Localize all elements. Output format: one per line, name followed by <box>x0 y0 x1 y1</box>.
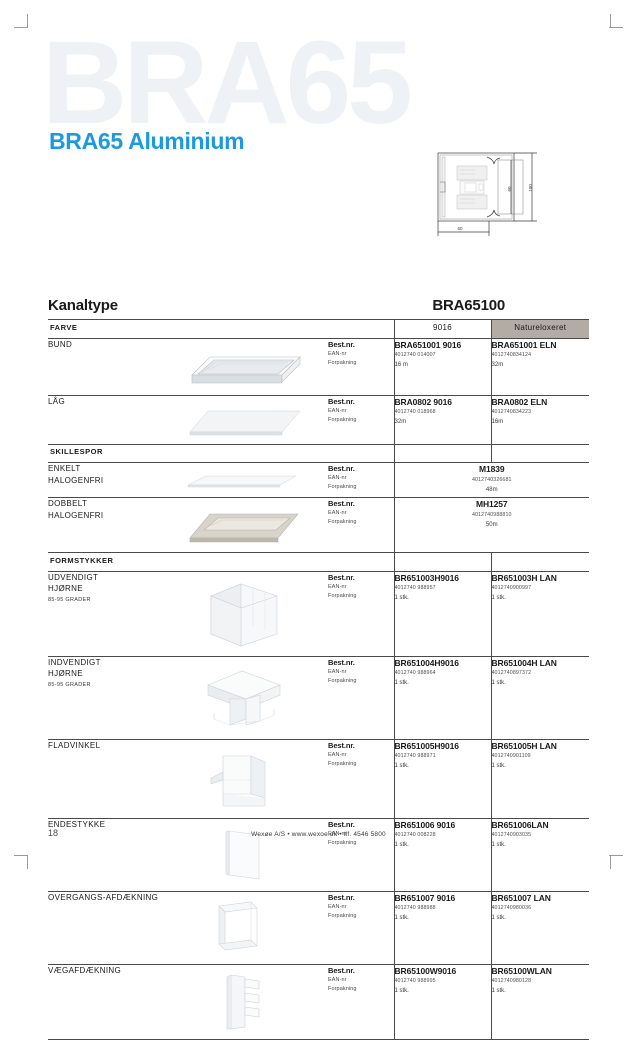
product-values-spanning: M1839401274032668148m <box>394 463 589 498</box>
product-label-cell: VÆGAFDÆKNING <box>48 964 160 1039</box>
order-number: BR651005H LAN <box>492 740 590 753</box>
crop-mark <box>610 855 611 869</box>
packaging-amount: 48m <box>395 485 590 495</box>
product-label-line: VÆGAFDÆKNING <box>48 965 160 977</box>
dim-height-outer-label: 100 <box>528 184 533 192</box>
packaging-amount: 1 stk. <box>492 913 590 923</box>
product-label-sub: 85-95 GRADER <box>48 682 160 688</box>
product-values-natureloxeret: BR651003H LAN40127409009971 stk. <box>491 571 589 656</box>
packaging-amount: 1 stk. <box>492 593 590 603</box>
packaging-amount: 16 m <box>395 360 491 370</box>
section-band-spacer-b <box>491 444 589 463</box>
product-image-cell <box>160 739 328 818</box>
order-number: BRA0802 9016 <box>395 396 491 409</box>
ean-number: 4012740 018968 <box>395 408 491 417</box>
ean-number: 4012740834124 <box>492 351 590 360</box>
product-image-cell <box>160 498 328 553</box>
order-number: BR65100W9016 <box>395 965 491 978</box>
product-values-natureloxeret: BR651004H LAN40127408973721 stk. <box>491 656 589 739</box>
section-band-row: FORMSTYKKER <box>48 553 589 572</box>
ean-nr-label: EAN-nr <box>328 751 394 760</box>
product-image-cell <box>160 571 328 656</box>
product-image-wall-cover <box>221 971 267 1033</box>
ean-number: 4012740897372 <box>492 669 590 678</box>
field-labels-cell: Best.nr.EAN-nrForpakning <box>328 338 394 395</box>
product-label-line: DOBBELT <box>48 498 160 510</box>
field-labels-cell: Best.nr.EAN-nrForpakning <box>328 498 394 553</box>
product-row: UDVENDIGTHJØRNE85-95 GRADER Best.nr.EAN-… <box>48 571 589 656</box>
ean-number: 4012740 988988 <box>395 904 491 913</box>
product-table-body: FARVE9016NatureloxeretBUND Best.nr.EAN-n… <box>48 320 589 1040</box>
product-values-natureloxeret: BR651007 LAN40127409800361 stk. <box>491 891 589 964</box>
forpakning-label: Forpakning <box>328 760 394 769</box>
field-labels-cell: Best.nr.EAN-nrForpakning <box>328 656 394 739</box>
product-label-line: UDVENDIGT <box>48 572 160 584</box>
best-nr-label: Best.nr. <box>328 339 394 350</box>
product-table: FARVE9016NatureloxeretBUND Best.nr.EAN-n… <box>48 319 589 1040</box>
product-image-divider-double <box>184 504 304 546</box>
ean-number: 4012740 988971 <box>395 752 491 761</box>
product-label-cell: ENKELTHALOGENFRI <box>48 463 160 498</box>
product-row: BUND Best.nr.EAN-nrForpakningBRA651001 9… <box>48 338 589 395</box>
product-row: OVERGANGS-AFDÆKNING Best.nr.EAN-nrForpak… <box>48 891 589 964</box>
best-nr-label: Best.nr. <box>328 463 394 474</box>
ean-number: 4012740980036 <box>492 904 590 913</box>
order-number: BR651007 LAN <box>492 892 590 905</box>
packaging-amount: 1 stk. <box>395 913 491 923</box>
product-row: ENKELTHALOGENFRI Best.nr.EAN-nrForpaknin… <box>48 463 589 498</box>
color-column-a-header: 9016 <box>394 320 491 339</box>
forpakning-label: Forpakning <box>328 483 394 492</box>
product-label-cell: OVERGANGS-AFDÆKNING <box>48 891 160 964</box>
product-label-line: HJØRNE <box>48 668 160 680</box>
ean-number: 4012740988810 <box>395 511 590 520</box>
forpakning-label: Forpakning <box>328 592 394 601</box>
ean-number: 4012740 988964 <box>395 669 491 678</box>
forpakning-label: Forpakning <box>328 359 394 368</box>
product-values-color-9016: BR651004H90164012740 9889641 stk. <box>394 656 491 739</box>
ean-number: 4012740900997 <box>492 584 590 593</box>
dim-height-inner-label: 60 <box>507 186 512 192</box>
product-label-line: HALOGENFRI <box>48 475 160 487</box>
product-image-cell <box>160 463 328 498</box>
color-column-b-header: Natureloxeret <box>491 320 589 339</box>
product-values-natureloxeret: BR65100WLAN40127409801281 stk. <box>491 964 589 1039</box>
section-band-row: FARVE9016Natureloxeret <box>48 320 589 339</box>
product-image-cell <box>160 891 328 964</box>
section-band-label: FORMSTYKKER <box>48 553 394 572</box>
ean-number: 4012740834223 <box>492 408 590 417</box>
field-labels-cell: Best.nr.EAN-nrForpakning <box>328 891 394 964</box>
section-band-spacer-b <box>491 553 589 572</box>
field-labels-cell: Best.nr.EAN-nrForpakning <box>328 739 394 818</box>
watermark-text: BRA65 <box>42 24 409 142</box>
product-values-spanning: MH1257401274098881050m <box>394 498 589 553</box>
dim-width-label: 60 <box>457 226 463 231</box>
best-nr-label: Best.nr. <box>328 657 394 668</box>
order-number: BR651007 9016 <box>395 892 491 905</box>
product-label-cell: INDVENDIGTHJØRNE85-95 GRADER <box>48 656 160 739</box>
product-row: INDVENDIGTHJØRNE85-95 GRADER Best.nr.EAN… <box>48 656 589 739</box>
product-label-cell: LÅG <box>48 395 160 444</box>
section-band-label: SKILLESPOR <box>48 444 394 463</box>
ean-nr-label: EAN-nr <box>328 350 394 359</box>
product-row: VÆGAFDÆKNING Best.nr.EAN-nrForpakningBR6… <box>48 964 589 1039</box>
product-image-cell <box>160 964 328 1039</box>
product-values-color-9016: BR651005H90164012740 9889711 stk. <box>394 739 491 818</box>
best-nr-label: Best.nr. <box>328 396 394 407</box>
section-band-spacer-a <box>394 553 491 572</box>
page-footer: 18 Wexøe A/S • www.wexoe.dk • tlf. 4546 … <box>48 828 589 858</box>
product-values-color-9016: BR651003H90164012740 9889571 stk. <box>394 571 491 656</box>
product-row: LÅG Best.nr.EAN-nrForpakningBRA0802 9016… <box>48 395 589 444</box>
ean-nr-label: EAN-nr <box>328 903 394 912</box>
field-labels-cell: Best.nr.EAN-nrForpakning <box>328 964 394 1039</box>
product-image-cell <box>160 338 328 395</box>
section-band-label: FARVE <box>48 320 394 339</box>
product-label-cell: DOBBELTHALOGENFRI <box>48 498 160 553</box>
order-number: BR65100WLAN <box>492 965 590 978</box>
order-number: M1839 <box>395 463 590 476</box>
product-image-flat-angle <box>207 746 281 812</box>
product-image-cell <box>160 656 328 739</box>
product-table-wrapper: Kanaltype BRA65100 FARVE9016Natureloxere… <box>48 288 589 1040</box>
product-label-sub: 85-95 GRADER <box>48 597 160 603</box>
order-number: BRA651001 ELN <box>492 339 590 352</box>
product-values-natureloxeret: BR651005H LAN40127409011091 stk. <box>491 739 589 818</box>
best-nr-label: Best.nr. <box>328 965 394 976</box>
best-nr-label: Best.nr. <box>328 740 394 751</box>
best-nr-label: Best.nr. <box>328 498 394 509</box>
ean-number: 4012740326681 <box>395 476 590 485</box>
order-number: BR651003H9016 <box>395 572 491 585</box>
order-number: MH1257 <box>395 498 590 511</box>
ean-number: 4012740980128 <box>492 977 590 986</box>
packaging-amount: 1 stk. <box>492 678 590 688</box>
order-number: BR651004H9016 <box>395 657 491 670</box>
ean-number: 4012740 988995 <box>395 977 491 986</box>
ean-nr-label: EAN-nr <box>328 583 394 592</box>
field-labels-cell: Best.nr.EAN-nrForpakning <box>328 395 394 444</box>
forpakning-label: Forpakning <box>328 985 394 994</box>
product-values-natureloxeret: BRA0802 ELN401274083422316m <box>491 395 589 444</box>
catalog-page: BRA65 BRA65 Aluminium <box>0 0 637 883</box>
section-band-spacer-a <box>394 444 491 463</box>
product-image-cell <box>160 395 328 444</box>
packaging-amount: 1 stk. <box>395 678 491 688</box>
packaging-amount: 1 stk. <box>395 986 491 996</box>
crop-mark <box>609 855 623 856</box>
ean-nr-label: EAN-nr <box>328 976 394 985</box>
product-label-line: BUND <box>48 339 160 351</box>
product-image-trunking-lid <box>184 402 304 438</box>
order-number: BR651005H9016 <box>395 740 491 753</box>
packaging-amount: 50m <box>395 520 590 530</box>
order-number: BR651003H LAN <box>492 572 590 585</box>
product-image-divider-single <box>184 469 304 491</box>
product-values-color-9016: BR651007 90164012740 9889881 stk. <box>394 891 491 964</box>
product-values-color-9016: BRA0802 90164012740 01896832m <box>394 395 491 444</box>
product-image-outside-corner <box>201 578 287 650</box>
product-label-line: LÅG <box>48 396 160 408</box>
product-row: FLADVINKEL Best.nr.EAN-nrForpakningBR651… <box>48 739 589 818</box>
forpakning-label: Forpakning <box>328 677 394 686</box>
product-label-line: FLADVINKEL <box>48 740 160 752</box>
product-image-inside-corner <box>194 663 294 733</box>
order-number: BRA0802 ELN <box>492 396 590 409</box>
best-nr-label: Best.nr. <box>328 572 394 583</box>
packaging-amount: 1 stk. <box>395 593 491 603</box>
ean-number: 4012740 988957 <box>395 584 491 593</box>
product-label-cell: BUND <box>48 338 160 395</box>
field-labels-cell: Best.nr.EAN-nrForpakning <box>328 463 394 498</box>
packaging-amount: 32m <box>492 360 590 370</box>
product-row: DOBBELTHALOGENFRI Best.nr.EAN-nrForpakni… <box>48 498 589 553</box>
product-label-line: HALOGENFRI <box>48 510 160 522</box>
best-nr-label: Best.nr. <box>328 892 394 903</box>
packaging-amount: 1 stk. <box>492 761 590 771</box>
page-title: BRA65 Aluminium <box>49 128 244 155</box>
section-band-row: SKILLESPOR <box>48 444 589 463</box>
product-label-line: INDVENDIGT <box>48 657 160 669</box>
ean-number: 4012740 014007 <box>395 351 491 360</box>
ean-nr-label: EAN-nr <box>328 509 394 518</box>
order-number: BR651004H LAN <box>492 657 590 670</box>
product-label-line: ENKELT <box>48 463 160 475</box>
forpakning-label: Forpakning <box>328 416 394 425</box>
packaging-amount: 32m <box>395 417 491 427</box>
crop-mark <box>27 855 28 869</box>
forpakning-label: Forpakning <box>328 912 394 921</box>
product-image-trunking-base <box>184 345 304 389</box>
ean-nr-label: EAN-nr <box>328 407 394 416</box>
product-values-natureloxeret: BRA651001 ELN401274083412432m <box>491 338 589 395</box>
ean-nr-label: EAN-nr <box>328 668 394 677</box>
crop-mark <box>14 855 28 856</box>
product-label-line: HJØRNE <box>48 583 160 595</box>
field-labels-cell: Best.nr.EAN-nrForpakning <box>328 571 394 656</box>
packaging-amount: 1 stk. <box>395 761 491 771</box>
imprint-line: Wexøe A/S • www.wexoe.dk • tlf. 4546 580… <box>48 831 589 838</box>
product-values-color-9016: BRA651001 90164012740 01400716 m <box>394 338 491 395</box>
forpakning-label: Forpakning <box>328 518 394 527</box>
packaging-amount: 1 stk. <box>492 986 590 996</box>
kanaltype-header: Kanaltype BRA65100 <box>48 288 589 314</box>
ean-nr-label: EAN-nr <box>328 474 394 483</box>
kanaltype-value: BRA65100 <box>432 297 505 314</box>
product-image-transition-cover <box>213 898 275 958</box>
order-number: BRA651001 9016 <box>395 339 491 352</box>
cross-section-drawing: 60 60 100 <box>427 148 551 240</box>
packaging-amount: 16m <box>492 417 590 427</box>
ean-number: 4012740901109 <box>492 752 590 761</box>
kanaltype-label: Kanaltype <box>48 297 118 314</box>
product-label-cell: FLADVINKEL <box>48 739 160 818</box>
product-label-line: OVERGANGS-AFDÆKNING <box>48 892 160 904</box>
product-values-color-9016: BR65100W90164012740 9889951 stk. <box>394 964 491 1039</box>
product-label-cell: UDVENDIGTHJØRNE85-95 GRADER <box>48 571 160 656</box>
